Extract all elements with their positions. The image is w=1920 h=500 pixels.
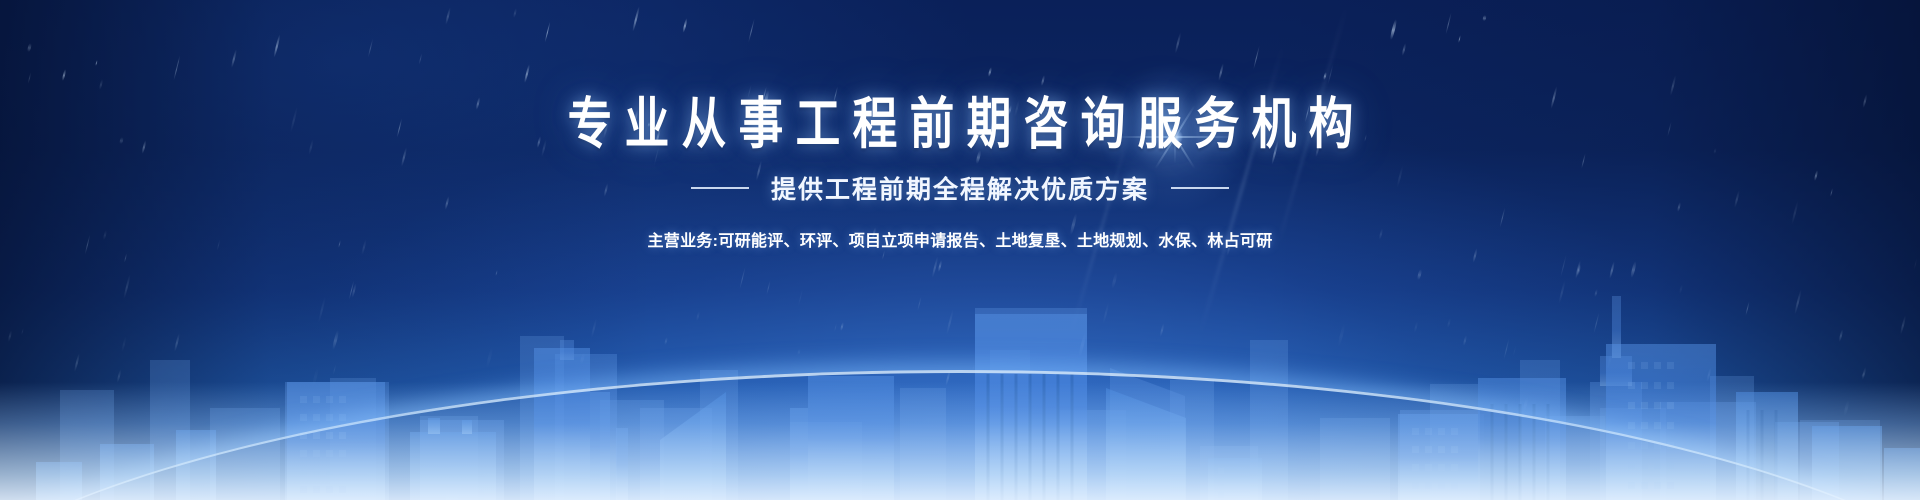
hero-banner: 专业从事工程前期咨询服务机构 提供工程前期全程解决优质方案 主营业务:可研能评、… bbox=[0, 0, 1920, 500]
banner-business-line: 主营业务:可研能评、环评、项目立项申请报告、土地复垦、土地规划、水保、林占可研 bbox=[647, 227, 1272, 251]
banner-headline: 专业从事工程前期咨询服务机构 bbox=[555, 96, 1365, 151]
divider-dash-left bbox=[691, 187, 749, 189]
divider-dash-right bbox=[1171, 187, 1229, 189]
banner-content: 专业从事工程前期咨询服务机构 提供工程前期全程解决优质方案 主营业务:可研能评、… bbox=[0, 0, 1920, 500]
banner-subtitle: 提供工程前期全程解决优质方案 bbox=[771, 170, 1149, 206]
banner-subtitle-row: 提供工程前期全程解决优质方案 bbox=[691, 170, 1229, 206]
